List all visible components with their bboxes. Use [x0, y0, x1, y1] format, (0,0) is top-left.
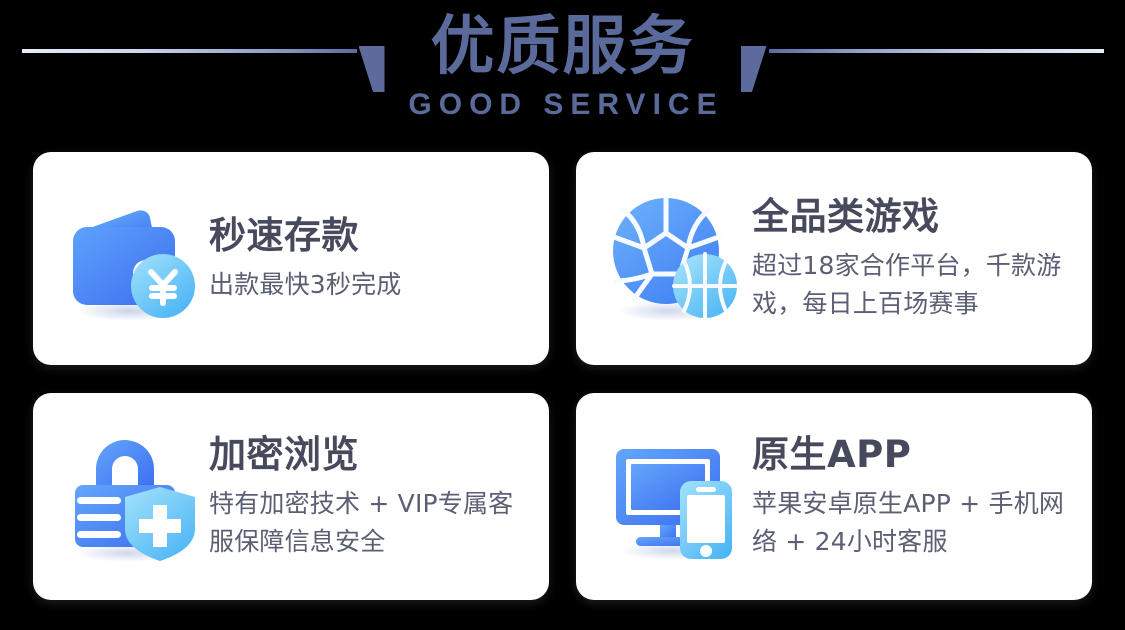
feature-card-games-text: 全品类游戏 超过18家合作平台，千款游戏，每日上百场赛事	[746, 195, 1070, 323]
feature-card-description: 超过18家合作平台，千款游戏，每日上百场赛事	[752, 247, 1070, 323]
feature-card-description: 苹果安卓原生APP + 手机网络 + 24小时客服	[752, 485, 1070, 561]
page-title: 优质服务	[0, 0, 1125, 86]
feature-card-deposit-text: 秒速存款 出款最快3秒完成	[203, 214, 527, 304]
feature-card-native-app[interactable]: 原生APP 苹果安卓原生APP + 手机网络 + 24小时客服	[576, 393, 1092, 600]
feature-card-title: 秒速存款	[209, 214, 527, 258]
feature-card-description: 特有加密技术 + VIP专属客服保障信息安全	[209, 485, 527, 561]
feature-card-deposit[interactable]: 秒速存款 出款最快3秒完成	[33, 152, 549, 365]
soccer-basketball-icon	[606, 189, 746, 329]
feature-card-grid: 秒速存款 出款最快3秒完成	[33, 152, 1092, 600]
feature-card-games[interactable]: 全品类游戏 超过18家合作平台，千款游戏，每日上百场赛事	[576, 152, 1092, 365]
page-subtitle: GOOD SERVICE	[0, 86, 1125, 122]
feature-card-title: 原生APP	[752, 433, 1070, 477]
banner-header: 优质服务 GOOD SERVICE	[0, 0, 1125, 150]
feature-card-title: 全品类游戏	[752, 195, 1070, 239]
feature-card-description: 出款最快3秒完成	[209, 266, 527, 304]
monitor-phone-icon	[606, 427, 746, 567]
feature-card-title: 加密浏览	[209, 433, 527, 477]
feature-card-encryption-text: 加密浏览 特有加密技术 + VIP专属客服保障信息安全	[203, 433, 527, 561]
lock-shield-icon	[63, 427, 203, 567]
feature-card-encryption[interactable]: 加密浏览 特有加密技术 + VIP专属客服保障信息安全	[33, 393, 549, 600]
header-text-block: 优质服务 GOOD SERVICE	[0, 0, 1125, 122]
good-service-banner: 优质服务 GOOD SERVICE	[0, 0, 1125, 630]
wallet-yen-icon	[63, 189, 203, 329]
feature-card-native-app-text: 原生APP 苹果安卓原生APP + 手机网络 + 24小时客服	[746, 433, 1070, 561]
